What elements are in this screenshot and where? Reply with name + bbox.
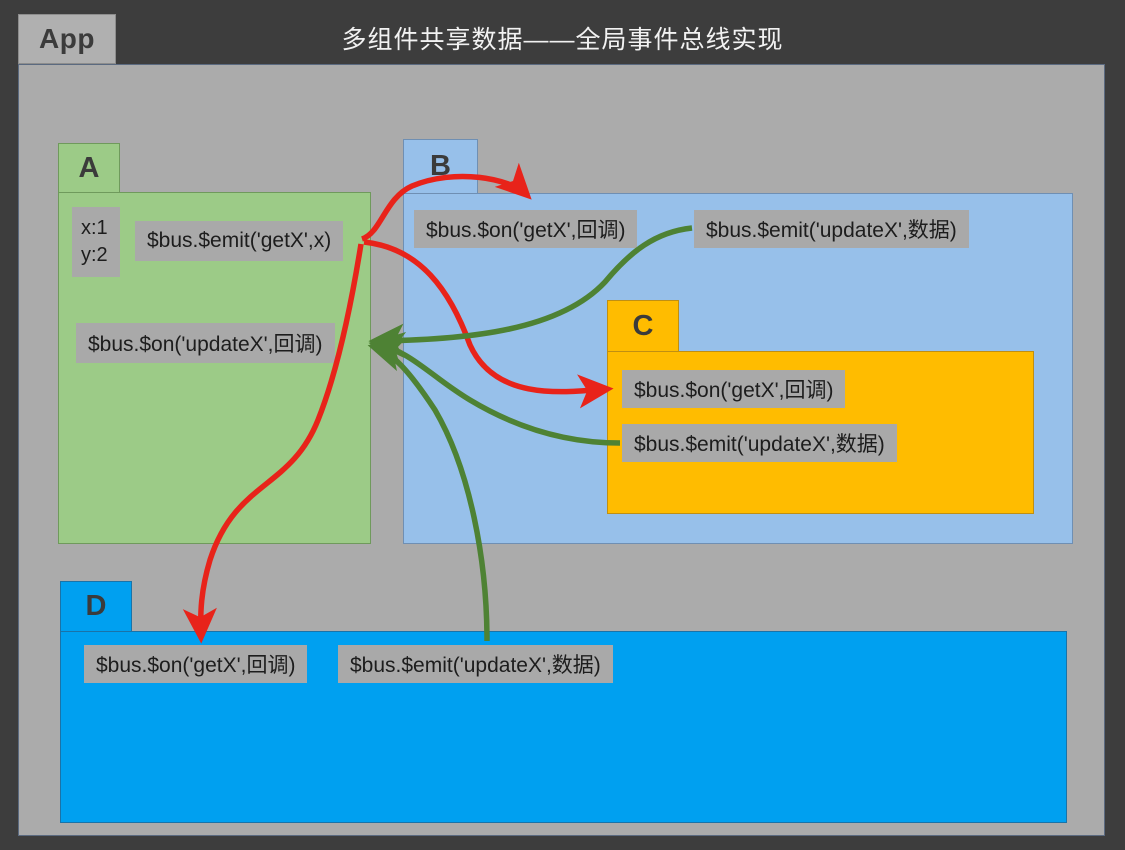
page-title: 多组件共享数据——全局事件总线实现 xyxy=(0,20,1125,56)
component-a-on-chip: $bus.$on('updateX',回调) xyxy=(76,323,335,363)
component-b-emit-chip: $bus.$emit('updateX',数据) xyxy=(694,210,969,248)
component-a-data-box: x:1 y:2 xyxy=(72,207,120,277)
component-a-data-y: y:2 xyxy=(81,242,108,269)
component-a-tab: A xyxy=(58,143,120,193)
diagram-canvas: App 多组件共享数据——全局事件总线实现 A x:1 y:2 $bus.$em… xyxy=(0,0,1125,850)
component-d-tab: D xyxy=(60,581,132,632)
component-b-on-chip: $bus.$on('getX',回调) xyxy=(414,210,637,248)
component-c-on-chip: $bus.$on('getX',回调) xyxy=(622,370,845,408)
component-a-emit-chip: $bus.$emit('getX',x) xyxy=(135,221,343,261)
component-c-tab: C xyxy=(607,300,679,352)
component-b-tab: B xyxy=(403,139,478,194)
component-d-emit-chip: $bus.$emit('updateX',数据) xyxy=(338,645,613,683)
component-c-emit-chip: $bus.$emit('updateX',数据) xyxy=(622,424,897,462)
component-d-on-chip: $bus.$on('getX',回调) xyxy=(84,645,307,683)
component-a-data-x: x:1 xyxy=(81,215,108,242)
